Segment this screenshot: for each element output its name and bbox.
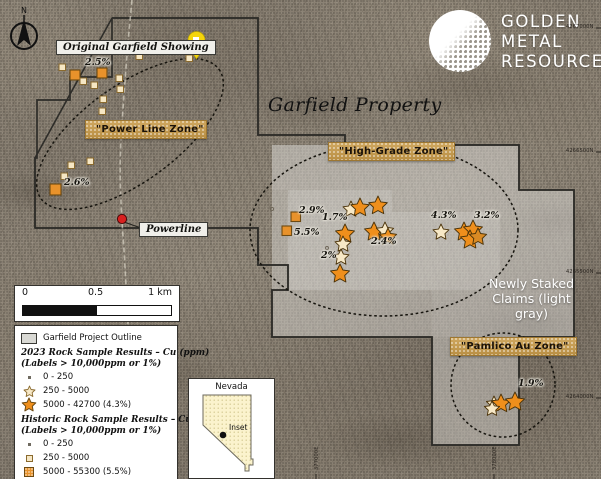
coordinate-label-east-1: 377000E <box>314 446 320 470</box>
newly-staked-line-3: gray) <box>489 306 574 321</box>
newly-staked-claims-note: Newly Staked Claims (light gray) <box>489 276 574 321</box>
sample-label-1-9: 1.9% <box>518 378 544 389</box>
legend-label-historic-low: 0 - 250 <box>43 439 73 449</box>
newly-staked-line-2: Claims (light <box>489 291 574 306</box>
dot-tiny-historic-icon <box>21 443 37 446</box>
legend-row-2023-low: 0 - 250 <box>21 370 171 384</box>
legend: Garfield Project Outline 2023 Rock Sampl… <box>14 325 178 479</box>
coordinate-label-north-3: 4265500N <box>566 269 594 275</box>
legend-label-2023-high: 5000 - 42700 (4.3%) <box>43 400 131 410</box>
legend-row-2023-high: 5000 - 42700 (4.3%) <box>21 398 171 412</box>
coordinate-label-east-2: 378000E <box>492 446 498 470</box>
north-label: N <box>6 6 42 15</box>
legend-label-project-outline: Garfield Project Outline <box>43 333 142 343</box>
legend-row-2023-mid: 250 - 5000 <box>21 384 171 398</box>
legend-row-historic-high: 5000 - 55300 (5.5%) <box>21 465 171 479</box>
halftone-circle-icon <box>429 10 491 72</box>
map-figure: N GOLDEN METAL RESOURCES Garfield Proper… <box>0 0 601 479</box>
zone-label-high-grade-zone: "High-Grade Zone" <box>328 142 455 161</box>
square-small-icon <box>21 455 37 462</box>
inset-title: Nevada <box>189 382 274 392</box>
sample-label-2-6: 2.6% <box>64 177 90 188</box>
star-small-icon <box>21 385 37 398</box>
coordinate-ticks-right <box>596 28 601 398</box>
powerline-point <box>117 214 126 223</box>
north-arrow: N <box>6 6 42 58</box>
page-title: Garfield Property <box>268 94 441 116</box>
legend-label-historic-high: 5000 - 55300 (5.5%) <box>43 467 131 477</box>
zone-label-power-line-zone: "Power Line Zone" <box>85 120 207 139</box>
coordinate-label-north-1: 4267000N <box>566 24 594 30</box>
legend-label-2023-mid: 250 - 5000 <box>43 386 89 396</box>
legend-label-historic-mid: 250 - 5000 <box>43 453 89 463</box>
legend-row-historic-low: 0 - 250 <box>21 437 171 451</box>
star-large-icon <box>21 397 37 413</box>
company-logo: GOLDEN METAL RESOURCES <box>429 8 597 78</box>
scale-tick-0: 0 <box>22 287 28 298</box>
callout-original-garfield-showing: Original Garfield Showing <box>56 40 216 55</box>
legend-heading-2023-line1: 2023 Rock Sample Results – Cu (ppm) <box>21 348 171 359</box>
scale-bar-track <box>22 305 172 316</box>
sample-label-5-5: 5.5% <box>294 227 320 238</box>
legend-heading-historic-line1: Historic Rock Sample Results – Cu (ppm) <box>21 415 171 426</box>
sample-label-4-3: 4.3% <box>431 210 457 221</box>
logo-line-3: RESOURCES <box>501 52 601 72</box>
scale-tick-1km: 1 km <box>148 287 172 298</box>
coordinate-label-north-2: 4266500N <box>566 148 594 154</box>
sample-label-2-9: 2.9% <box>299 205 325 216</box>
legend-row-historic-mid: 250 - 5000 <box>21 451 171 465</box>
inset-point-label: Inset <box>229 423 247 432</box>
legend-label-2023-low: 0 - 250 <box>43 372 73 382</box>
coordinate-label-north-4: 4264000N <box>566 394 594 400</box>
square-large-icon <box>21 467 37 477</box>
legend-heading-2023-line2: (Labels > 10,000ppm or 1%) <box>21 359 171 370</box>
sample-label-1-7: 1.7% <box>322 212 348 223</box>
dot-tiny-icon <box>21 376 37 379</box>
callout-powerline: Powerline <box>139 222 208 237</box>
logo-wordmark: GOLDEN METAL RESOURCES <box>501 12 601 72</box>
sample-label-2-4: 2.4% <box>371 236 397 247</box>
sample-label-3-2: 3.2% <box>474 210 500 221</box>
legend-heading-historic-line2: (Labels > 10,000ppm or 1%) <box>21 426 171 437</box>
scale-tick-0-5: 0.5 <box>88 287 103 298</box>
newly-staked-line-1: Newly Staked <box>489 276 574 291</box>
legend-row-project-outline: Garfield Project Outline <box>21 331 171 345</box>
zone-label-pamlico-au-zone: "Pamlico Au Zone" <box>450 337 577 356</box>
scale-bar-fill <box>23 306 97 315</box>
scale-bar: 0 0.5 1 km <box>14 285 180 322</box>
logo-line-2: METAL <box>501 32 601 52</box>
project-outline-icon <box>21 333 37 344</box>
sample-label-2-5: 2.5% <box>85 57 111 68</box>
sample-label-2: 2% <box>321 250 337 261</box>
nevada-inset-map: Nevada Inset <box>188 378 275 479</box>
coordinate-ticks-bottom <box>316 474 494 479</box>
